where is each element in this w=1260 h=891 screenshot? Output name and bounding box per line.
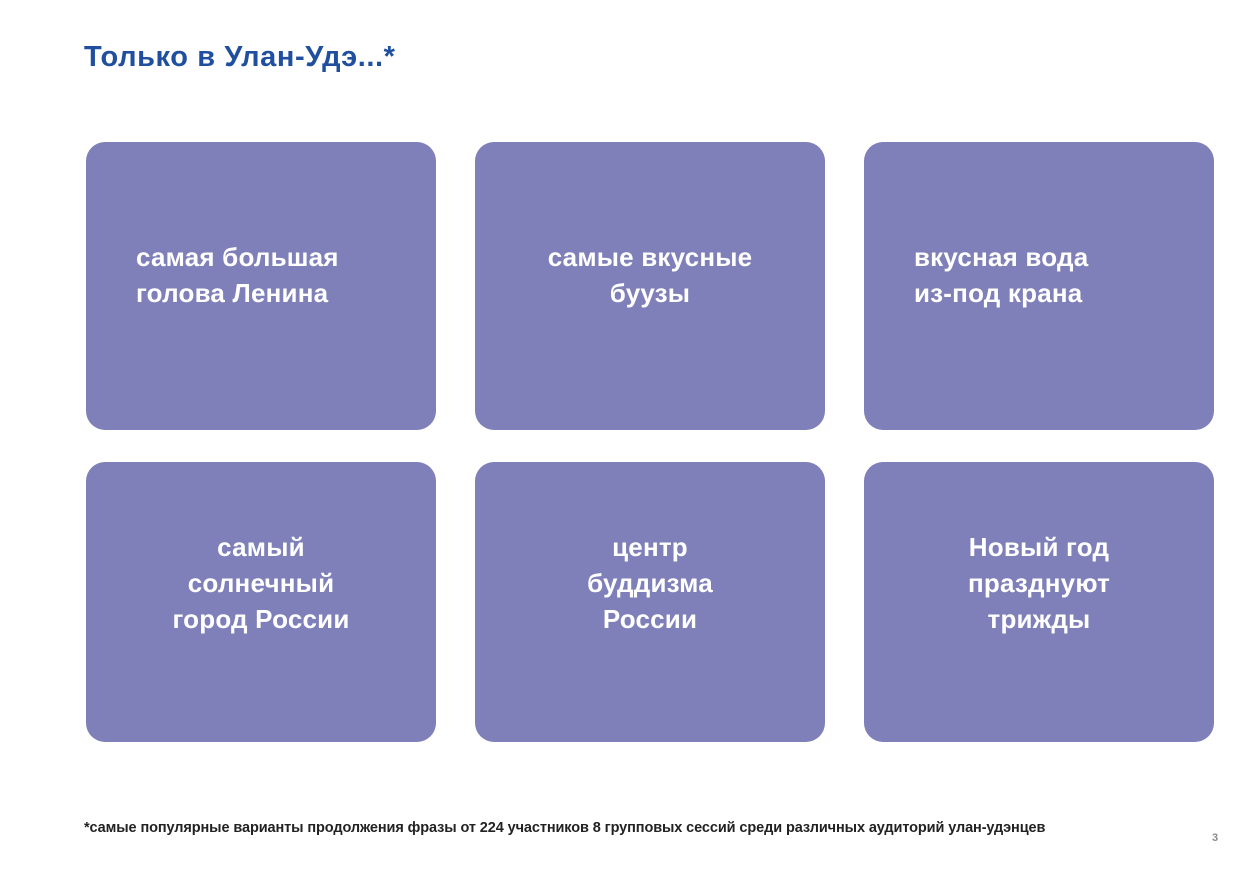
card-label: Новый год празднуют трижды <box>864 530 1214 638</box>
card-label: самые вкусные буузы <box>475 240 825 312</box>
card-tap-water[interactable]: вкусная вода из-под крана <box>864 142 1214 430</box>
card-buddhism-center[interactable]: центр буддизма России <box>475 462 825 742</box>
card-label: самый солнечный город России <box>86 530 436 638</box>
footnote-text: *самые популярные варианты продолжения ф… <box>84 820 1045 836</box>
page-title: Только в Улан-Удэ...* <box>84 40 396 75</box>
card-label: самая большая голова Ленина <box>86 240 436 312</box>
card-grid: самая большая голова Ленина самые вкусны… <box>86 142 1214 742</box>
card-sunniest-city[interactable]: самый солнечный город России <box>86 462 436 742</box>
page-number: 3 <box>1212 832 1218 844</box>
slide-canvas: Только в Улан-Удэ...* самая большая голо… <box>0 0 1260 891</box>
card-buuzy[interactable]: самые вкусные буузы <box>475 142 825 430</box>
card-label: вкусная вода из-под крана <box>864 240 1214 312</box>
card-lenin-head[interactable]: самая большая голова Ленина <box>86 142 436 430</box>
card-new-year[interactable]: Новый год празднуют трижды <box>864 462 1214 742</box>
card-label: центр буддизма России <box>475 530 825 638</box>
